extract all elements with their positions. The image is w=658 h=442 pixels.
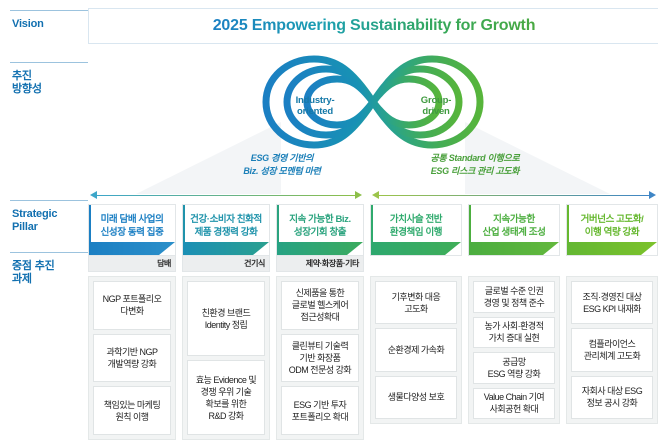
task-card[interactable]: 생물다양성 보호 [375, 376, 457, 419]
text-line: ESG 역량 강화 [488, 368, 541, 380]
pillar-bottom-strip [183, 242, 269, 255]
category-label: 담배 [157, 258, 171, 269]
task-column: NGP 포트폴리오다변화과학기반 NGP개발역량 강화책임있는 마케팅원칙 이행 [88, 276, 176, 440]
text-line: ESG 기반 투자 [292, 399, 348, 411]
text-line: 지속 가능한 Biz. [289, 213, 350, 226]
pillar-strip-notch [543, 242, 559, 255]
rail-label-direction-line2: 방향성 [12, 83, 42, 96]
text-line: 공급망 [488, 356, 541, 368]
text-line: 가치 증대 실현 [485, 332, 544, 344]
text-line: 환경책임 이행 [390, 226, 442, 239]
text-line: 생물다양성 보호 [388, 391, 444, 403]
caption-left-line1: ESG 경영 기반의 [192, 152, 372, 165]
pillar-column: 건강·소비자 친화적제품 경쟁력 강화건기식 [182, 204, 270, 272]
scope-arrow-left [90, 190, 362, 202]
text-line: 경쟁 우위 기술 [196, 386, 256, 398]
text-line: 이행 역량 강화 [581, 226, 644, 239]
direction-stage: Industry- oriented Group- driven ESG 경영 … [88, 46, 658, 194]
task-label: 컴플라이언스관리체계 고도화 [584, 338, 640, 362]
task-column: 기후변화 대응고도화순환경제 가속화생물다양성 보호 [370, 276, 462, 424]
task-label: 글로벌 수준 인권경영 및 정책 준수 [484, 285, 544, 309]
loop-label-right-line2: driven [400, 106, 472, 117]
pillar-title: 지속가능한산업 생태계 조성 [480, 213, 549, 239]
rail-divider-direction [10, 62, 88, 63]
pillar-title: 건강·소비자 친화적제품 경쟁력 강화 [187, 213, 265, 239]
pillar-header-row: 가치사슬 전반환경책임 이행지속가능한산업 생태계 조성거버넌스 고도화/이행 … [370, 204, 658, 256]
text-line: 접근성확대 [292, 311, 348, 323]
arrow-head-left-icon [372, 191, 379, 199]
pillar-column: 거버넌스 고도화/이행 역량 강화 [566, 204, 658, 256]
task-label: 순환경제 가속화 [388, 344, 444, 356]
task-label: ESG 기반 투자포트폴리오 확대 [292, 399, 348, 423]
task-label: 생물다양성 보호 [388, 391, 444, 403]
text-line: 관리체계 고도화 [584, 350, 640, 362]
text-line: 가치사슬 전반 [390, 213, 442, 226]
task-row: NGP 포트폴리오다변화과학기반 NGP개발역량 강화책임있는 마케팅원칙 이행… [88, 272, 364, 440]
pillar-title: 지속 가능한 Biz.성장기회 창출 [286, 213, 353, 239]
text-line: 경영 및 정책 준수 [484, 297, 544, 309]
task-card[interactable]: 자회사 대상 ESG정보 공시 강화 [571, 376, 653, 419]
rail-label-direction-line1: 추진 [12, 70, 42, 83]
rail-label-task-line2: 과제 [12, 273, 55, 286]
pillar-strip-notch [641, 242, 657, 255]
text-line: R&D 강화 [196, 410, 256, 422]
rail-divider-task [10, 252, 88, 253]
category-label: 제약·화장품·기타 [306, 258, 359, 269]
pillar-header-row: 미래 담배 사업의신성장 동력 집중담배건강·소비자 친화적제품 경쟁력 강화건… [88, 204, 364, 272]
pillar-card[interactable]: 지속 가능한 Biz.성장기회 창출 [276, 204, 364, 256]
pillar-bottom-strip [89, 242, 175, 255]
pillar-group-right: 가치사슬 전반환경책임 이행지속가능한산업 생태계 조성거버넌스 고도화/이행 … [370, 204, 658, 424]
text-line: 책임있는 마케팅 [104, 399, 160, 411]
text-line: 과학기반 NGP [106, 346, 157, 358]
task-card[interactable]: 과학기반 NGP개발역량 강화 [93, 334, 171, 383]
task-label: Value Chain 기여사회공헌 확대 [484, 391, 544, 415]
task-card[interactable]: 컴플라이언스관리체계 고도화 [571, 328, 653, 371]
text-line: 원칙 이행 [104, 411, 160, 423]
rail-label-direction: 추진 방향성 [12, 70, 42, 96]
pillar-strip-notch [159, 242, 175, 255]
category-label: 건기식 [244, 258, 265, 269]
rail-label-vision: Vision [12, 18, 44, 31]
pillar-group-left: 미래 담배 사업의신성장 동력 집중담배건강·소비자 친화적제품 경쟁력 강화건… [88, 204, 364, 440]
task-column: 신제품을 통한글로벌 헬스케어접근성확대클린뷰티 기술력기반 화장품ODM 전문… [276, 276, 364, 440]
text-line: 산업 생태계 조성 [483, 226, 546, 239]
infinity-loop-graphic: Industry- oriented Group- driven [252, 48, 494, 161]
rail-label-task-line1: 중점 추진 [12, 260, 55, 273]
task-column: 친환경 브랜드Identity 정립효능 Evidence 및경쟁 우위 기술확… [182, 276, 270, 440]
task-label: 클린뷰티 기술력기반 화장품ODM 전문성 강화 [289, 340, 351, 376]
text-line: 포트폴리오 확대 [292, 411, 348, 423]
pillar-strip-notch [347, 242, 363, 255]
text-line: Value Chain 기여 [484, 391, 544, 403]
rail-label-pillar: Strategic Pillar [12, 208, 57, 234]
pillar-card[interactable]: 거버넌스 고도화/이행 역량 강화 [566, 204, 658, 256]
task-card[interactable]: 친환경 브랜드Identity 정립 [187, 281, 265, 356]
rail-label-pillar-line2: Pillar [12, 221, 57, 234]
rail-divider-pillar [10, 200, 88, 201]
text-line: 제품 경쟁력 강화 [190, 226, 262, 239]
task-card[interactable]: 조직·경영진 대상ESG KPI 내재화 [571, 281, 653, 324]
text-line: 글로벌 수준 인권 [484, 285, 544, 297]
text-line: 거버넌스 고도화/ [581, 213, 644, 226]
task-label: 자회사 대상 ESG정보 공시 강화 [582, 385, 642, 409]
task-label: 신제품을 통한글로벌 헬스케어접근성확대 [292, 287, 348, 323]
text-line: 기후변화 대응 [392, 291, 441, 303]
text-line: 건강·소비자 친화적 [190, 213, 262, 226]
pillar-bottom-strip [567, 242, 657, 255]
pillar-column: 지속 가능한 Biz.성장기회 창출제약·화장품·기타 [276, 204, 364, 272]
vision-banner: 2025 Empowering Sustainability for Growt… [88, 8, 658, 44]
text-line: 친환경 브랜드 [202, 307, 251, 319]
text-line: 자회사 대상 ESG [582, 385, 642, 397]
task-column: 글로벌 수준 인권경영 및 정책 준수농가 사회·환경적가치 증대 실현공급망E… [468, 276, 560, 424]
text-line: 글로벌 헬스케어 [292, 299, 348, 311]
caption-right-line2: ESG 리스크 관리 고도화 [380, 165, 570, 178]
text-line: 성장기회 창출 [289, 226, 350, 239]
pillar-card[interactable]: 가치사슬 전반환경책임 이행 [370, 204, 462, 256]
text-line: 정보 공시 강화 [582, 397, 642, 409]
text-line: 컴플라이언스 [584, 338, 640, 350]
task-card[interactable]: 책임있는 마케팅원칙 이행 [93, 386, 171, 435]
pillar-card[interactable]: 미래 담배 사업의신성장 동력 집중 [88, 204, 176, 256]
task-card[interactable]: ESG 기반 투자포트폴리오 확대 [281, 386, 359, 435]
task-label: 조직·경영진 대상ESG KPI 내재화 [583, 291, 642, 315]
category-bar: 제약·화장품·기타 [276, 256, 364, 272]
text-line: 효능 Evidence 및 [196, 374, 256, 386]
task-card[interactable]: 신제품을 통한글로벌 헬스케어접근성확대 [281, 281, 359, 330]
pillar-bottom-strip [469, 242, 559, 255]
task-label: 친환경 브랜드Identity 정립 [202, 307, 251, 331]
pillar-card[interactable]: 지속가능한산업 생태계 조성 [468, 204, 560, 256]
text-line: 지속가능한 [483, 213, 546, 226]
text-line: 조직·경영진 대상 [583, 291, 642, 303]
text-line: ESG KPI 내재화 [583, 303, 642, 315]
pillar-title: 미래 담배 사업의신성장 동력 집중 [98, 213, 167, 239]
loop-label-right: Group- driven [400, 95, 472, 117]
vision-title: 2025 Empowering Sustainability for Growt… [213, 17, 536, 35]
text-line: 미래 담배 사업의 [101, 213, 164, 226]
task-label: NGP 포트폴리오다변화 [103, 293, 162, 317]
arrow-shaft [379, 195, 649, 196]
arrow-head-right-icon [355, 191, 362, 199]
loop-label-left-line2: oriented [279, 106, 351, 117]
pillar-column: 지속가능한산업 생태계 조성 [468, 204, 560, 256]
category-bar: 담배 [88, 256, 176, 272]
pillar-bottom-strip [277, 242, 363, 255]
text-line: NGP 포트폴리오 [103, 293, 162, 305]
arrow-head-right-icon [649, 191, 656, 199]
task-card[interactable]: 공급망ESG 역량 강화 [473, 352, 555, 384]
text-line: 개발역량 강화 [106, 358, 157, 370]
task-label: 과학기반 NGP개발역량 강화 [106, 346, 157, 370]
text-line: 순환경제 가속화 [388, 344, 444, 356]
rail-label-task: 중점 추진 과제 [12, 260, 55, 286]
task-card[interactable]: 기후변화 대응고도화 [375, 281, 457, 324]
pillar-column: 가치사슬 전반환경책임 이행 [370, 204, 462, 256]
task-card[interactable]: 글로벌 수준 인권경영 및 정책 준수 [473, 281, 555, 313]
caption-left-line2: Biz. 성장 모멘텀 마련 [192, 165, 372, 178]
text-line: 기반 화장품 [289, 352, 351, 364]
text-line: 농가 사회·환경적 [485, 320, 544, 332]
task-card[interactable]: Value Chain 기여사회공헌 확대 [473, 388, 555, 420]
text-line: Identity 정립 [202, 319, 251, 331]
text-line: 사회공헌 확대 [484, 403, 544, 415]
category-bar: 건기식 [182, 256, 270, 272]
task-card[interactable]: NGP 포트폴리오다변화 [93, 281, 171, 330]
task-label: 책임있는 마케팅원칙 이행 [104, 399, 160, 423]
loop-label-left: Industry- oriented [279, 95, 351, 117]
text-line: 신성장 동력 집중 [101, 226, 164, 239]
scope-arrow-right [372, 190, 656, 202]
task-card[interactable]: 효능 Evidence 및경쟁 우위 기술확보를 위한R&D 강화 [187, 360, 265, 435]
pillar-card[interactable]: 건강·소비자 친화적제품 경쟁력 강화 [182, 204, 270, 256]
task-label: 기후변화 대응고도화 [392, 291, 441, 315]
text-line: 고도화 [392, 303, 441, 315]
task-label: 농가 사회·환경적가치 증대 실현 [485, 320, 544, 344]
text-line: 클린뷰티 기술력 [289, 340, 351, 352]
pillar-title: 가치사슬 전반환경책임 이행 [387, 213, 445, 239]
pillar-bottom-strip [371, 242, 461, 255]
text-line: 신제품을 통한 [292, 287, 348, 299]
task-label: 공급망ESG 역량 강화 [488, 356, 541, 380]
caption-left: ESG 경영 기반의 Biz. 성장 모멘텀 마련 [192, 152, 372, 178]
text-line: ODM 전문성 강화 [289, 364, 351, 376]
rail-label-pillar-line1: Strategic [12, 208, 57, 221]
pillar-strip-notch [253, 242, 269, 255]
task-card[interactable]: 농가 사회·환경적가치 증대 실현 [473, 317, 555, 349]
pillar-strip-notch [445, 242, 461, 255]
pillar-column: 미래 담배 사업의신성장 동력 집중담배 [88, 204, 176, 272]
text-line: 확보를 위한 [196, 398, 256, 410]
caption-right-line1: 공통 Standard 이행으로 [380, 152, 570, 165]
loop-label-left-line1: Industry- [279, 95, 351, 106]
text-line: 다변화 [103, 305, 162, 317]
task-label: 효능 Evidence 및경쟁 우위 기술확보를 위한R&D 강화 [196, 374, 256, 422]
arrow-shaft [97, 195, 355, 196]
task-row: 기후변화 대응고도화순환경제 가속화생물다양성 보호글로벌 수준 인권경영 및 … [370, 256, 658, 424]
loop-label-right-line1: Group- [400, 95, 472, 106]
task-card[interactable]: 클린뷰티 기술력기반 화장품ODM 전문성 강화 [281, 334, 359, 383]
task-card[interactable]: 순환경제 가속화 [375, 328, 457, 371]
arrow-head-left-icon [90, 191, 97, 199]
caption-right: 공통 Standard 이행으로 ESG 리스크 관리 고도화 [380, 152, 570, 178]
task-column: 조직·경영진 대상ESG KPI 내재화컴플라이언스관리체계 고도화자회사 대상… [566, 276, 658, 424]
rail-divider-vision [10, 10, 88, 11]
pillar-title: 거버넌스 고도화/이행 역량 강화 [578, 213, 647, 239]
